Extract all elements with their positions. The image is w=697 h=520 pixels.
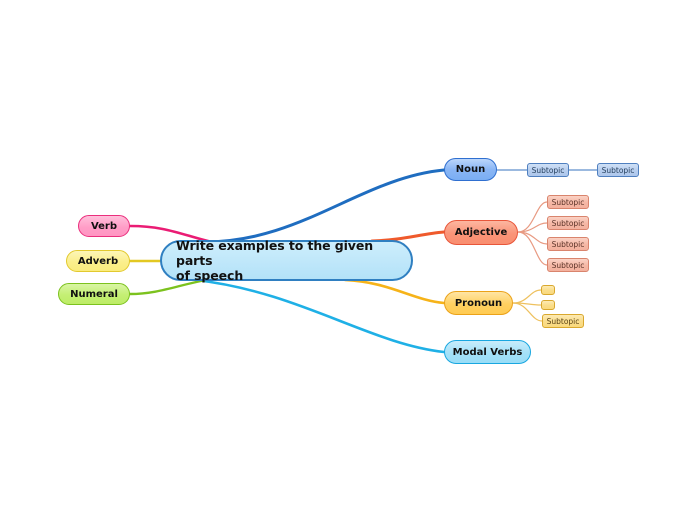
central-topic-line-2: of speech <box>176 268 397 283</box>
subtopic-adjective-4-label: Subtopic <box>552 261 585 270</box>
branch-label-pronoun: Pronoun <box>455 298 502 309</box>
subtopic-pronoun-3[interactable]: Subtopic <box>542 314 584 328</box>
subtopic-adjective-1[interactable]: Subtopic <box>547 195 589 209</box>
edge-adjective-sub1 <box>518 202 547 232</box>
branch-node-noun[interactable]: Noun <box>444 158 497 181</box>
subtopic-noun-1-label: Subtopic <box>532 166 565 175</box>
subtopic-noun-2-label: Subtopic <box>602 166 635 175</box>
subtopic-noun-2[interactable]: Subtopic <box>597 163 639 177</box>
subtopic-noun-1[interactable]: Subtopic <box>527 163 569 177</box>
edge-pronoun-sub3 <box>513 303 542 321</box>
edge-adjective-sub3 <box>518 232 547 244</box>
edge-central-noun <box>200 170 444 242</box>
branch-label-noun: Noun <box>456 164 485 175</box>
branch-label-numeral: Numeral <box>70 289 118 300</box>
central-topic-node[interactable]: Write examples to the given parts of spe… <box>160 240 413 281</box>
edge-adjective-sub4 <box>518 232 547 265</box>
edge-pronoun-sub1 <box>513 290 541 303</box>
branch-node-adverb[interactable]: Adverb <box>66 250 130 272</box>
branch-node-numeral[interactable]: Numeral <box>58 283 130 305</box>
subtopic-pronoun-3-label: Subtopic <box>547 317 580 326</box>
branch-node-modal-verbs[interactable]: Modal Verbs <box>444 340 531 364</box>
branch-label-adverb: Adverb <box>78 256 118 267</box>
branch-label-adjective: Adjective <box>455 227 508 238</box>
subtopic-adjective-2[interactable]: Subtopic <box>547 216 589 230</box>
branch-node-adjective[interactable]: Adjective <box>444 220 518 245</box>
subtopic-pronoun-2[interactable] <box>541 300 555 310</box>
subtopic-adjective-3[interactable]: Subtopic <box>547 237 589 251</box>
subtopic-adjective-3-label: Subtopic <box>552 240 585 249</box>
branch-label-verb: Verb <box>91 221 117 232</box>
edge-central-pronoun <box>345 280 444 303</box>
branch-label-modal-verbs: Modal Verbs <box>453 347 523 358</box>
edge-adjective-sub2 <box>518 223 547 232</box>
central-topic-line-1: Write examples to the given parts <box>176 238 397 268</box>
branch-node-pronoun[interactable]: Pronoun <box>444 291 513 315</box>
edge-pronoun-sub2 <box>513 303 541 305</box>
subtopic-pronoun-1[interactable] <box>541 285 555 295</box>
branch-node-verb[interactable]: Verb <box>78 215 130 237</box>
subtopic-adjective-1-label: Subtopic <box>552 198 585 207</box>
subtopic-adjective-2-label: Subtopic <box>552 219 585 228</box>
edge-central-modal <box>196 280 444 352</box>
subtopic-adjective-4[interactable]: Subtopic <box>547 258 589 272</box>
mindmap-canvas[interactable]: Write examples to the given parts of spe… <box>0 0 697 520</box>
